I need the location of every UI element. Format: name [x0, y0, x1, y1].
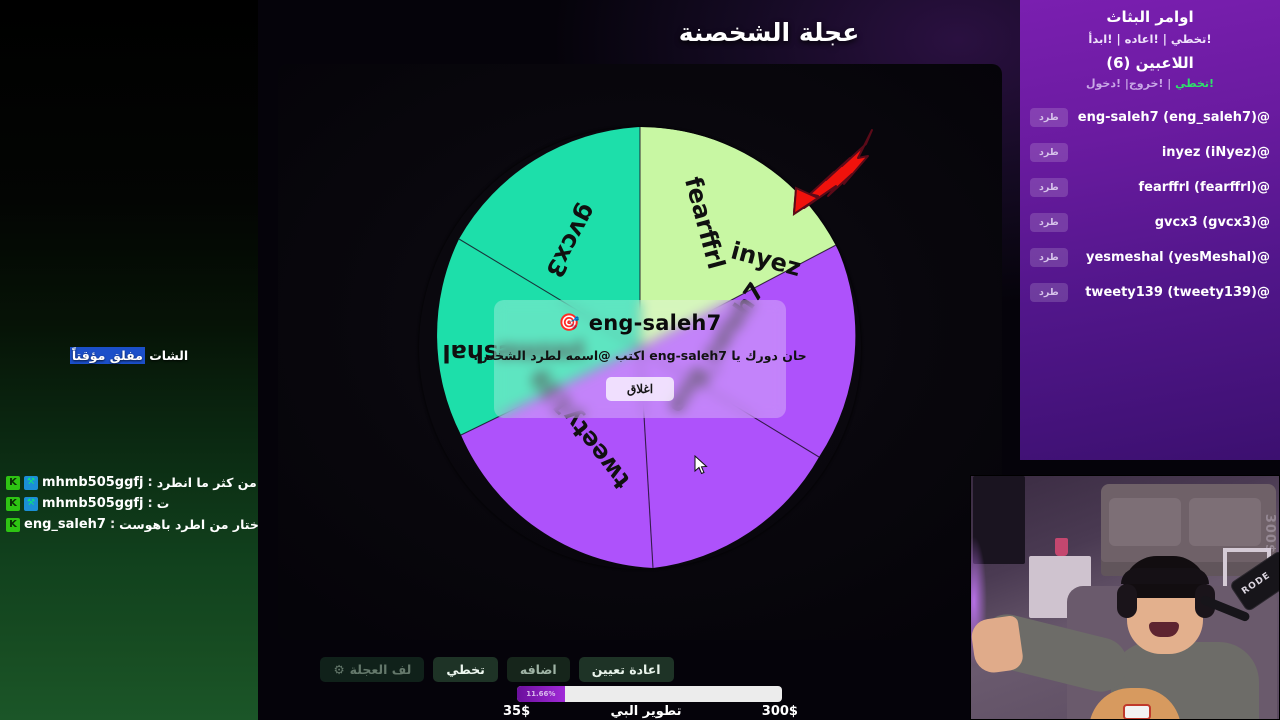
progress-labels: 35$ تطوير البي 300$ [503, 704, 798, 719]
chat-message-list[interactable]: K ⚒ mhmb505ggfj : طفشت من كثر ما انطرد K… [0, 472, 252, 535]
chat-username[interactable]: eng_saleh7 [24, 517, 106, 532]
moderator-badge-icon: ⚒ [24, 476, 38, 490]
player-name: eng-saleh7 (eng_saleh7)@ [1078, 110, 1270, 125]
cup [1055, 538, 1068, 556]
chat-notice-selected: مفلق مؤقتاً [70, 347, 145, 364]
skip-command[interactable]: !تخطي [1175, 77, 1214, 90]
player-row: fearffrl (fearffrl)@ طرد [1030, 170, 1270, 205]
kick-player-button[interactable]: طرد [1030, 213, 1068, 232]
chat-message[interactable]: K eng_saleh7 : اختار من اطرد باهوست [0, 514, 252, 535]
player-name: gvcx3 (gvcx3)@ [1155, 215, 1270, 230]
streamer-mouth [1149, 622, 1179, 637]
spin-wheel-button[interactable]: لف العجلة ⚙ [320, 657, 424, 682]
chat-username[interactable]: mhmb505ggfj [42, 496, 144, 511]
kick-player-button[interactable]: طرد [1030, 248, 1068, 267]
webcam-feed: RODE 300$ [970, 475, 1280, 720]
player-name: tweety139 (tweety139)@ [1085, 285, 1270, 300]
wheel-controls: اعادة تعيين اضافه تخطي لف العجلة ⚙ [214, 657, 780, 681]
commands-subtitle: !تخطي | !اعاده | !ابدأ [1030, 32, 1270, 46]
player-row: eng-saleh7 (eng_saleh7)@ طرد [1030, 100, 1270, 135]
player-row: inyez (iNyez)@ طرد [1030, 135, 1270, 170]
microphone-brand: RODE [1240, 571, 1272, 597]
chat-colon: : [148, 475, 153, 490]
kick-broadcaster-badge-icon: K [6, 476, 20, 490]
gear-icon: ⚙ [333, 662, 344, 677]
player-name: inyez (iNyez)@ [1162, 145, 1270, 160]
players-title: اللاعبين (6) [1030, 54, 1270, 72]
commands-panel: اوامر البثاث !تخطي | !اعاده | !ابدأ اللا… [1020, 0, 1280, 460]
chat-text: اختار من اطرد باهوست [119, 517, 263, 532]
winner-row: 🎯 eng-saleh7 [559, 311, 722, 335]
kick-broadcaster-badge-icon: K [6, 497, 20, 511]
progress-goal-label: تطوير البي [610, 704, 681, 719]
other-commands: | !خروج| !دخول [1086, 77, 1175, 90]
progress-max: 300$ [762, 704, 798, 719]
winner-instruction: حان دورك يا eng-saleh7 اكتب @اسمه لطرد ا… [473, 348, 806, 363]
player-row: yesmeshal (yesMeshal)@ طرد [1030, 240, 1270, 275]
players-commands: !تخطي | !خروج| !دخول [1030, 77, 1270, 90]
kick-player-button[interactable]: طرد [1030, 283, 1068, 302]
chat-message[interactable]: K ⚒ mhmb505ggfj : ت [0, 493, 252, 514]
headphone-earcup-left [1117, 584, 1137, 618]
player-name: fearffrl (fearffrl)@ [1138, 180, 1270, 195]
progress-fill: 11.66% [517, 686, 565, 702]
kick-player-button[interactable]: طرد [1030, 143, 1068, 162]
red-zigzag-arrow-icon [784, 124, 880, 220]
headphones-band [1121, 568, 1209, 584]
add-button[interactable]: اضافه [507, 657, 570, 682]
reset-button[interactable]: اعادة تعيين [579, 657, 674, 682]
mouse-cursor [694, 455, 708, 475]
chat-colon: : [110, 517, 115, 532]
chat-username[interactable]: mhmb505ggfj [42, 475, 144, 490]
goal-watermark: 300$ [1262, 514, 1277, 554]
player-row: tweety139 (tweety139)@ طرد [1030, 275, 1270, 310]
skip-button[interactable]: تخطي [433, 657, 498, 682]
player-list: eng-saleh7 (eng_saleh7)@ طرد inyez (iNye… [1030, 100, 1270, 310]
kick-player-button[interactable]: طرد [1030, 178, 1068, 197]
winner-name: eng-saleh7 [589, 311, 722, 335]
chat-notice-prefix: الشات [145, 348, 188, 363]
progress-min: 35$ [503, 704, 530, 719]
chat-message[interactable]: K ⚒ mhmb505ggfj : طفشت من كثر ما انطرد [0, 472, 252, 493]
progress-bar: 11.66% [517, 686, 782, 702]
chat-text: ت [157, 496, 170, 511]
winner-modal: 🎯 eng-saleh7 حان دورك يا eng-saleh7 اكتب… [494, 300, 786, 418]
kick-broadcaster-badge-icon: K [6, 518, 20, 532]
moderator-badge-icon: ⚒ [24, 497, 38, 511]
player-row: gvcx3 (gvcx3)@ طرد [1030, 205, 1270, 240]
dart-target-icon: 🎯 [559, 315, 580, 332]
chat-closed-text: الشات مفلق مؤقتاً [70, 348, 188, 363]
stream-screen: الشات مفلق مؤقتاً K ⚒ mhmb505ggfj : طفشت… [0, 0, 1280, 720]
chat-sidebar: الشات مفلق مؤقتاً K ⚒ mhmb505ggfj : طفشت… [0, 0, 258, 720]
close-button[interactable]: اغلاق [606, 377, 674, 401]
player-name: yesmeshal (yesMeshal)@ [1086, 250, 1270, 265]
plush-toy-mouth [1123, 704, 1151, 720]
commands-title: اوامر البثاث [1030, 8, 1270, 26]
kick-player-button[interactable]: طرد [1030, 108, 1068, 127]
progress-caption: 11.66% [526, 690, 555, 698]
chat-closed-notice: الشات مفلق مؤقتاً [0, 345, 258, 364]
chat-colon: : [148, 496, 153, 511]
spin-label: لف العجلة [350, 662, 412, 677]
